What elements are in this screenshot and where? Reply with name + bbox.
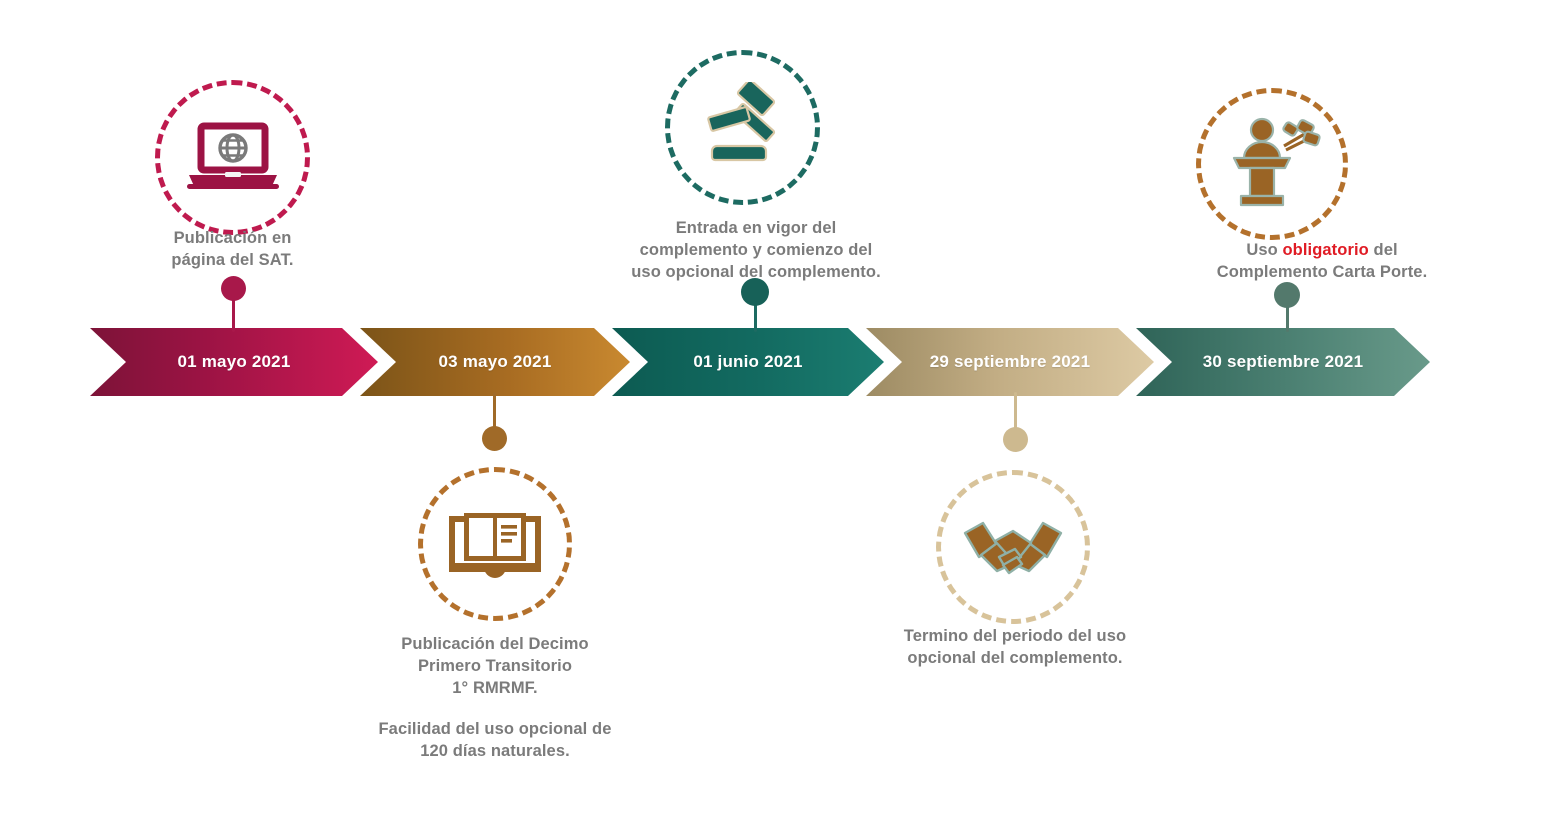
timeline-segment-5-date: 30 septiembre 2021 [1203, 352, 1363, 372]
timeline-segment-3-date: 01 junio 2021 [693, 352, 802, 372]
connector-dot-4 [1003, 427, 1028, 452]
timeline-segment-3[interactable]: 01 junio 2021 [612, 328, 884, 396]
milestone-4-caption-line-1: Termino del periodo del uso [904, 627, 1126, 645]
milestone-3-caption-line-3: uso opcional del complemento. [631, 263, 881, 281]
milestone-2-caption-line-3: 1° RMRMF. [452, 679, 537, 697]
milestone-5-caption: Uso obligatorio del Complemento Carta Po… [1140, 240, 1504, 284]
milestone-3-badge[interactable] [665, 50, 820, 205]
milestone-4-caption: Termino del periodo del uso opcional del… [870, 626, 1160, 670]
milestone-2-caption-line-1: Publicación del Decimo [401, 635, 588, 653]
timeline-segment-2-date: 03 mayo 2021 [439, 352, 552, 372]
milestone-4-caption-line-2: opcional del complemento. [907, 649, 1122, 667]
milestone-3-caption-line-2: complemento y comienzo del [640, 241, 873, 259]
milestone-5-caption-prefix: Uso [1246, 241, 1282, 259]
milestone-5-caption-suffix: del [1369, 241, 1398, 259]
milestone-2-caption-line-4: Facilidad del uso opcional de [378, 720, 611, 738]
milestone-2-caption-line-2: Primero Transitorio [418, 657, 572, 675]
milestone-5-badge[interactable] [1196, 88, 1348, 240]
milestone-5-caption-highlight: obligatorio [1282, 241, 1368, 259]
timeline-segment-1-date: 01 mayo 2021 [178, 352, 291, 372]
milestone-2-badge[interactable] [418, 467, 572, 621]
handshake-icon [959, 513, 1067, 581]
milestone-4-badge[interactable] [936, 470, 1090, 624]
milestone-3-caption-line-1: Entrada en vigor del [676, 219, 837, 237]
connector-dot-5 [1274, 282, 1300, 308]
milestone-1-badge[interactable] [155, 80, 310, 235]
milestone-2-caption: Publicación del Decimo Primero Transitor… [340, 634, 650, 763]
timeline-segment-5[interactable]: 30 septiembre 2021 [1136, 328, 1430, 396]
milestone-3-caption: Entrada en vigor del complemento y comie… [586, 218, 926, 284]
timeline-segment-4[interactable]: 29 septiembre 2021 [866, 328, 1154, 396]
open-book-icon [446, 505, 544, 583]
milestone-2-caption-line-5: 120 días naturales. [420, 742, 570, 760]
connector-dot-2 [482, 426, 507, 451]
timeline-segment-4-date: 29 septiembre 2021 [930, 352, 1090, 372]
milestone-1-caption-line-1: Publicación en [174, 229, 292, 247]
laptop-globe-icon [185, 122, 281, 194]
timeline-segment-1[interactable]: 01 mayo 2021 [90, 328, 378, 396]
gavel-icon [695, 82, 791, 174]
milestone-5-caption-line-2: Complemento Carta Porte. [1217, 263, 1428, 281]
milestone-1-caption-line-2: página del SAT. [171, 251, 293, 269]
podium-speaker-icon [1222, 116, 1322, 212]
timeline-infographic: 01 mayo 2021 03 mayo 2021 01 junio 2021 … [0, 0, 1564, 813]
connector-dot-1 [221, 276, 246, 301]
timeline-ribbon: 01 mayo 2021 03 mayo 2021 01 junio 2021 … [90, 328, 1430, 396]
timeline-segment-2[interactable]: 03 mayo 2021 [360, 328, 630, 396]
milestone-1-caption: Publicación en página del SAT. [110, 228, 355, 272]
